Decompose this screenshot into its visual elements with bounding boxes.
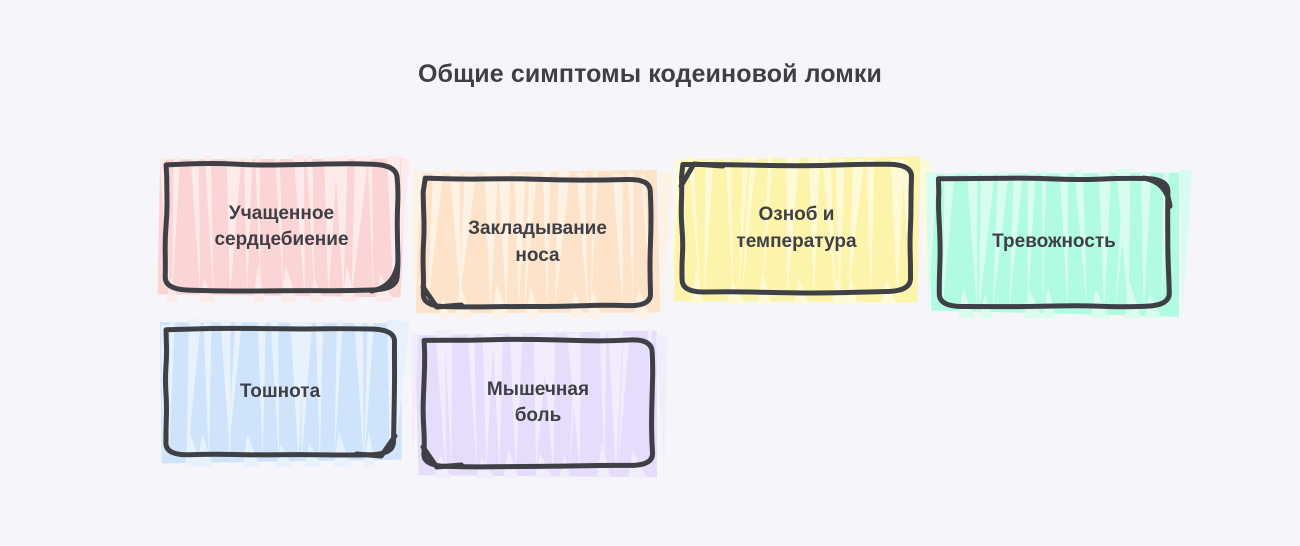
card-muscle-pain[interactable]: Мышечная боль (422, 338, 654, 468)
card-nasal-congestion[interactable]: Закладывание носа (422, 177, 653, 308)
card-anxiety-label: Тревожность (937, 177, 1171, 308)
card-rapid-heartbeat[interactable]: Учащенное сердцебиение (164, 162, 399, 292)
page-title: Общие симптомы кодеиновой ломки (0, 60, 1300, 89)
card-rapid-heartbeat-label: Учащенное сердцебиение (164, 162, 399, 292)
diagram-canvas: Общие симптомы кодеиновой ломки Учащенно… (0, 0, 1300, 546)
card-nausea-label: Тошнота (164, 327, 396, 457)
card-nausea[interactable]: Тошнота (164, 327, 396, 457)
card-chills-fever[interactable]: Озноб и температура (680, 163, 913, 294)
card-muscle-pain-label: Мышечная боль (422, 338, 654, 468)
card-nasal-congestion-label: Закладывание носа (422, 177, 653, 308)
card-chills-fever-label: Озноб и температура (680, 163, 913, 294)
card-anxiety[interactable]: Тревожность (937, 177, 1171, 308)
